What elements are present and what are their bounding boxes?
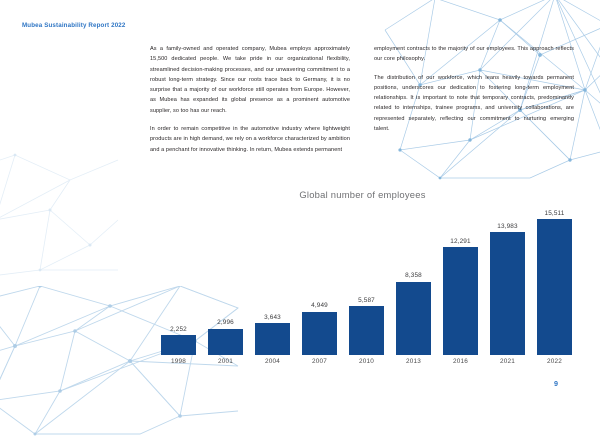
right-text-column: employment contracts to the majority of … <box>374 44 574 155</box>
document-page: Mubea Sustainability Report 2022 As a fa… <box>0 0 600 424</box>
x-axis-tick-label: 2007 <box>296 358 343 365</box>
employees-bar-chart: 2,2522,9963,6434,9495,5878,35812,29113,9… <box>148 206 576 376</box>
bar-group: 15,511 <box>531 206 578 355</box>
bar-group: 13,983 <box>484 206 531 355</box>
bar-group: 2,252 <box>155 206 202 355</box>
chart-bar <box>349 306 384 355</box>
paragraph: employment contracts to the majority of … <box>374 44 574 65</box>
chart-x-axis: 199820012004200720102013201620212022 <box>148 358 576 372</box>
x-axis-tick-label: 2016 <box>437 358 484 365</box>
bar-group: 4,949 <box>296 206 343 355</box>
x-axis-tick-label: 1998 <box>155 358 202 365</box>
bar-value-label: 2,252 <box>155 326 202 333</box>
paragraph: The distribution of our workforce, which… <box>374 73 574 135</box>
bar-group: 2,996 <box>202 206 249 355</box>
bar-group: 3,643 <box>249 206 296 355</box>
bar-value-label: 5,587 <box>343 297 390 304</box>
bar-value-label: 3,643 <box>249 314 296 321</box>
x-axis-tick-label: 2004 <box>249 358 296 365</box>
chart-bar <box>208 329 243 355</box>
body-text-columns: As a family-owned and operated company, … <box>150 44 575 155</box>
x-axis-tick-label: 2013 <box>390 358 437 365</box>
bar-group: 12,291 <box>437 206 484 355</box>
page-number: 9 <box>554 379 558 388</box>
left-text-column: As a family-owned and operated company, … <box>150 44 350 155</box>
bar-value-label: 8,358 <box>390 272 437 279</box>
chart-bar <box>537 219 572 355</box>
chart-bar <box>255 323 290 355</box>
chart-bar <box>443 247 478 355</box>
bar-value-label: 12,291 <box>437 238 484 245</box>
bar-group: 5,587 <box>343 206 390 355</box>
bar-value-label: 15,511 <box>531 210 578 217</box>
chart-plot-area: 2,2522,9963,6434,9495,5878,35812,29113,9… <box>148 206 576 355</box>
paragraph: In order to remain competitive in the au… <box>150 124 350 155</box>
x-axis-tick-label: 2001 <box>202 358 249 365</box>
chart-bar <box>161 335 196 355</box>
bar-group: 8,358 <box>390 206 437 355</box>
bar-value-label: 13,983 <box>484 223 531 230</box>
document-header-title: Mubea Sustainability Report 2022 <box>22 22 125 29</box>
x-axis-tick-label: 2021 <box>484 358 531 365</box>
bar-value-label: 4,949 <box>296 302 343 309</box>
chart-bar <box>396 282 431 355</box>
x-axis-tick-label: 2022 <box>531 358 578 365</box>
chart-bar <box>302 312 337 355</box>
x-axis-tick-label: 2010 <box>343 358 390 365</box>
chart-title: Global number of employees <box>150 189 575 200</box>
paragraph: As a family-owned and operated company, … <box>150 44 350 116</box>
network-mesh-decoration-mid-left <box>0 150 120 290</box>
chart-bar <box>490 232 525 355</box>
bar-value-label: 2,996 <box>202 319 249 326</box>
